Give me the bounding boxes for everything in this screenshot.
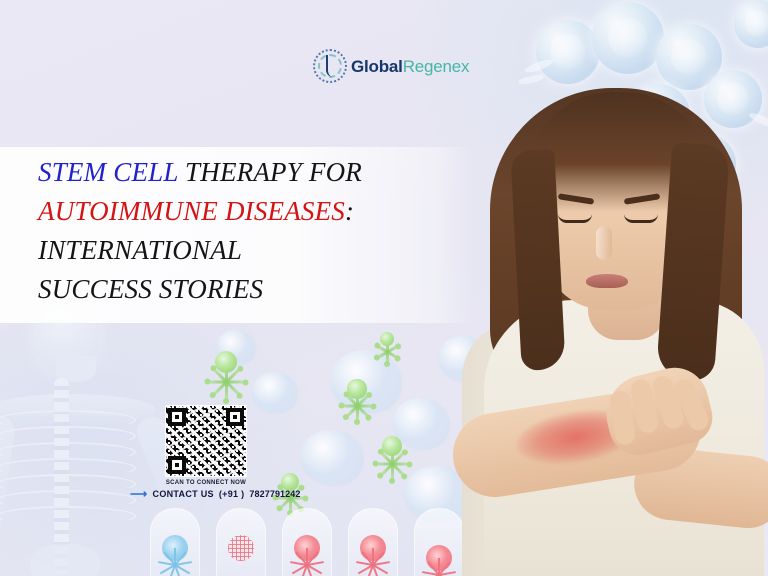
headline-autoimmune-diseases: AUTOIMMUNE DISEASES — [38, 196, 345, 226]
cell-blob — [300, 430, 364, 486]
virus-particle-icon — [374, 428, 410, 464]
qr-code-icon[interactable] — [165, 405, 247, 477]
contact-label: CONTACT US — [153, 489, 214, 499]
virus-particle-icon — [206, 342, 246, 382]
virus-particle-icon — [374, 326, 400, 352]
headline-line-2: AUTOIMMUNE DISEASES: — [38, 192, 468, 231]
page-title: STEM CELL THERAPY FOR AUTOIMMUNE DISEASE… — [38, 153, 468, 309]
brand-name: GlobalRegenex — [351, 58, 469, 75]
dna-circle-icon — [313, 49, 347, 83]
banner-root: STEM CELL THERAPY FOR AUTOIMMUNE DISEASE… — [0, 0, 768, 576]
brand-name-secondary: Regenex — [403, 57, 470, 76]
brand-name-primary: Global — [351, 57, 403, 76]
contact-country-code: (+91 ) — [219, 489, 245, 499]
brand-logo[interactable]: GlobalRegenex — [313, 49, 469, 83]
headline-line-4: SUCCESS STORIES — [38, 270, 468, 309]
headline-stem-cell: STEM CELL — [38, 157, 178, 187]
arrow-right-icon: ⟶ — [130, 488, 148, 500]
contact-line[interactable]: ⟶ CONTACT US (+91 ) 7827791242 — [130, 488, 300, 500]
headline-line-3: INTERNATIONAL — [38, 231, 468, 270]
qr-block[interactable]: SCAN TO CONNECT NOW — [152, 405, 260, 486]
headline-colon: : — [345, 196, 354, 226]
contact-phone[interactable]: 7827791242 — [249, 489, 300, 499]
person-photo — [438, 0, 768, 576]
skeleton-xray-icon — [0, 282, 172, 576]
virus-particle-icon — [340, 372, 374, 406]
headline-therapy-for: THERAPY FOR — [178, 157, 362, 187]
headline-line-1: STEM CELL THERAPY FOR — [38, 153, 468, 192]
qr-caption: SCAN TO CONNECT NOW — [152, 480, 260, 486]
